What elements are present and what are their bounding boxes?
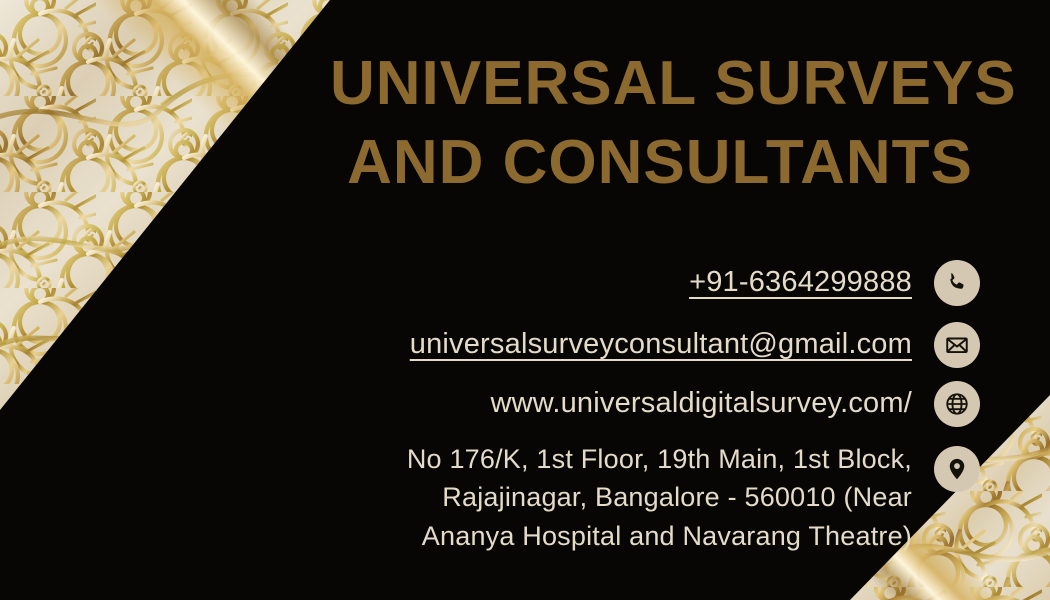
contact-row-email[interactable]: universalsurveyconsultant@gmail.com [280, 314, 980, 376]
phone-number[interactable]: +91-6364299888 [689, 264, 912, 302]
location-pin-icon [944, 456, 970, 482]
phone-icon [944, 270, 970, 296]
location-pin-icon-badge[interactable] [934, 446, 980, 492]
contact-row-address[interactable]: No 176/K, 1st Floor, 19th Main, 1st Bloc… [280, 432, 980, 560]
company-title: UNIVERSAL SURVEYS AND CONSULTANTS [330, 44, 990, 203]
email-address[interactable]: universalsurveyconsultant@gmail.com [410, 326, 912, 364]
envelope-icon-badge[interactable] [934, 322, 980, 368]
company-title-line-2: AND CONSULTANTS [330, 123, 990, 202]
envelope-icon [944, 332, 970, 358]
phone-icon-badge[interactable] [934, 260, 980, 306]
company-title-line-1: UNIVERSAL SURVEYS [330, 44, 990, 123]
globe-icon [944, 391, 970, 417]
globe-icon-badge[interactable] [934, 381, 980, 427]
business-card: UNIVERSAL SURVEYS AND CONSULTANTS +91-63… [0, 0, 1050, 600]
postal-address: No 176/K, 1st Floor, 19th Main, 1st Bloc… [407, 440, 912, 555]
contact-row-phone[interactable]: +91-6364299888 [280, 252, 980, 314]
website-url[interactable]: www.universaldigitalsurvey.com/ [491, 385, 912, 423]
contact-details: +91-6364299888 universalsurveyconsultant… [280, 252, 980, 560]
contact-row-website[interactable]: www.universaldigitalsurvey.com/ [280, 376, 980, 432]
